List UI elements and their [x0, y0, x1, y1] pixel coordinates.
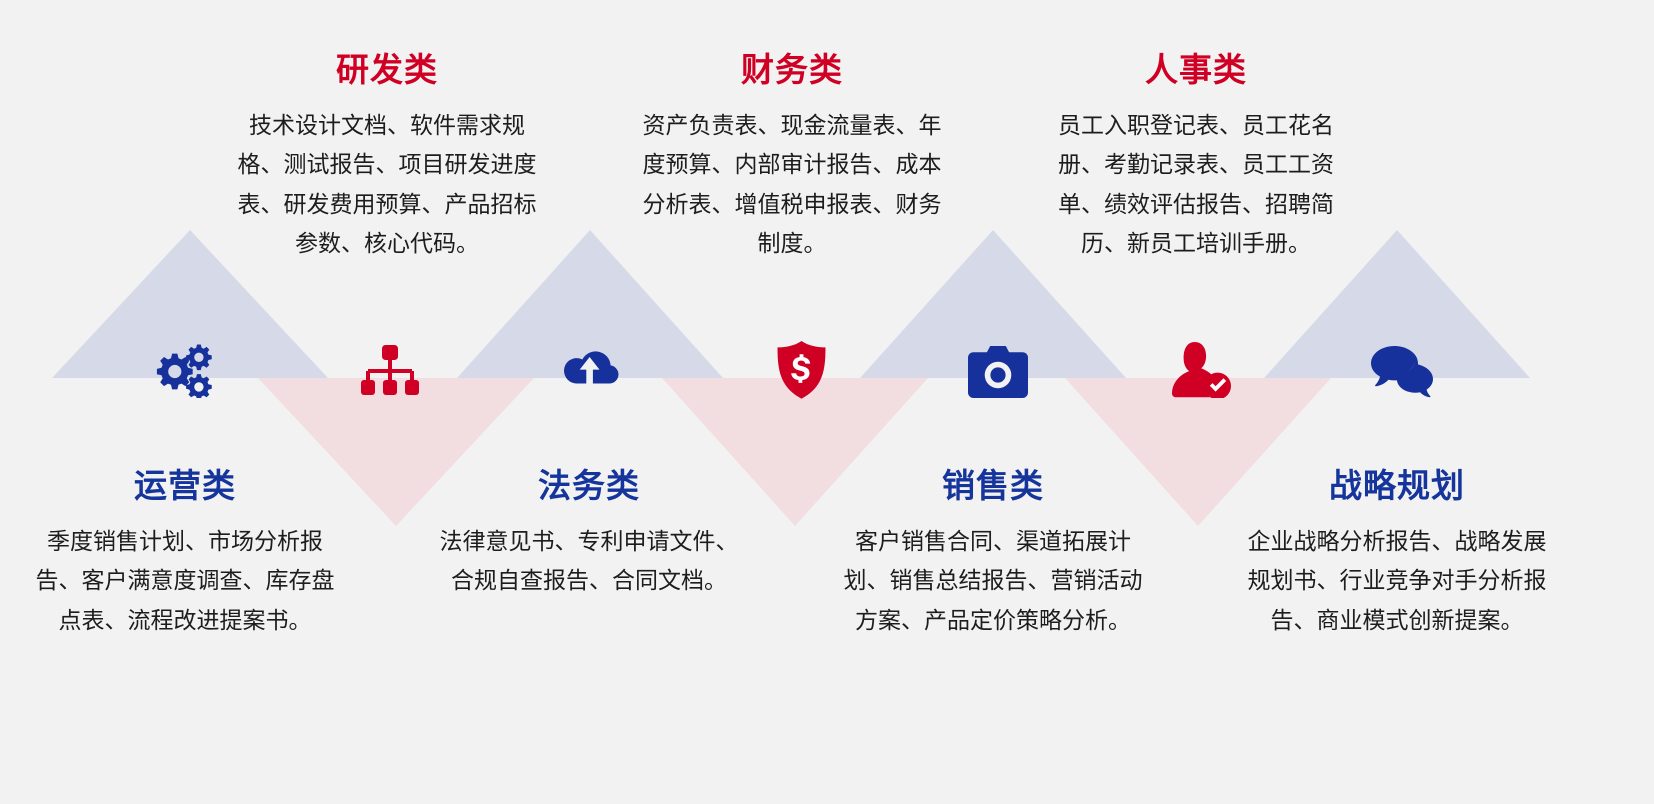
- section-body: 员工入职登记表、员工花名册、考勤记录表、员工工资单、绩效评估报告、招聘简历、新员…: [1041, 106, 1351, 264]
- user-check-icon: [1166, 340, 1238, 400]
- section-title: 法务类: [434, 466, 744, 506]
- section-body: 企业战略分析报告、战略发展规划书、行业竞争对手分析报告、商业模式创新提案。: [1242, 522, 1552, 641]
- shield-dollar-icon: [765, 340, 837, 400]
- section-title: 运营类: [30, 466, 340, 506]
- section-bottom-2: 法务类 法律意见书、专利申请文件、合规自查报告、合同文档。: [434, 466, 744, 601]
- section-bottom-3: 销售类 客户销售合同、渠道拓展计划、销售总结报告、营销活动方案、产品定价策略分析…: [838, 466, 1148, 640]
- gears-icon: [148, 340, 220, 400]
- section-bottom-4: 战略规划 企业战略分析报告、战略发展规划书、行业竞争对手分析报告、商业模式创新提…: [1242, 466, 1552, 640]
- section-top-2: 财务类 资产负责表、现金流量表、年度预算、内部审计报告、成本分析表、增值税申报表…: [637, 50, 947, 264]
- section-title: 销售类: [838, 466, 1148, 506]
- section-body: 季度销售计划、市场分析报告、客户满意度调查、库存盘点表、流程改进提案书。: [30, 522, 340, 641]
- section-title: 人事类: [1041, 50, 1351, 90]
- section-bottom-1: 运营类 季度销售计划、市场分析报告、客户满意度调查、库存盘点表、流程改进提案书。: [30, 466, 340, 640]
- section-body: 技术设计文档、软件需求规格、测试报告、项目研发进度表、研发费用预算、产品招标参数…: [232, 106, 542, 264]
- section-top-1: 研发类 技术设计文档、软件需求规格、测试报告、项目研发进度表、研发费用预算、产品…: [232, 50, 542, 264]
- section-body: 资产负责表、现金流量表、年度预算、内部审计报告、成本分析表、增值税申报表、财务制…: [637, 106, 947, 264]
- section-body: 客户销售合同、渠道拓展计划、销售总结报告、营销活动方案、产品定价策略分析。: [838, 522, 1148, 641]
- section-title: 研发类: [232, 50, 542, 90]
- section-title: 战略规划: [1242, 466, 1552, 506]
- section-top-3: 人事类 员工入职登记表、员工花名册、考勤记录表、员工工资单、绩效评估报告、招聘简…: [1041, 50, 1351, 264]
- section-body: 法律意见书、专利申请文件、合规自查报告、合同文档。: [434, 522, 744, 601]
- chat-bubbles-icon: [1368, 342, 1440, 402]
- section-title: 财务类: [637, 50, 947, 90]
- infographic-canvas: 研发类 技术设计文档、软件需求规格、测试报告、项目研发进度表、研发费用预算、产品…: [0, 0, 1654, 804]
- camera-icon: [962, 342, 1034, 402]
- cloud-upload-icon: [557, 342, 629, 402]
- hierarchy-icon: [354, 342, 426, 402]
